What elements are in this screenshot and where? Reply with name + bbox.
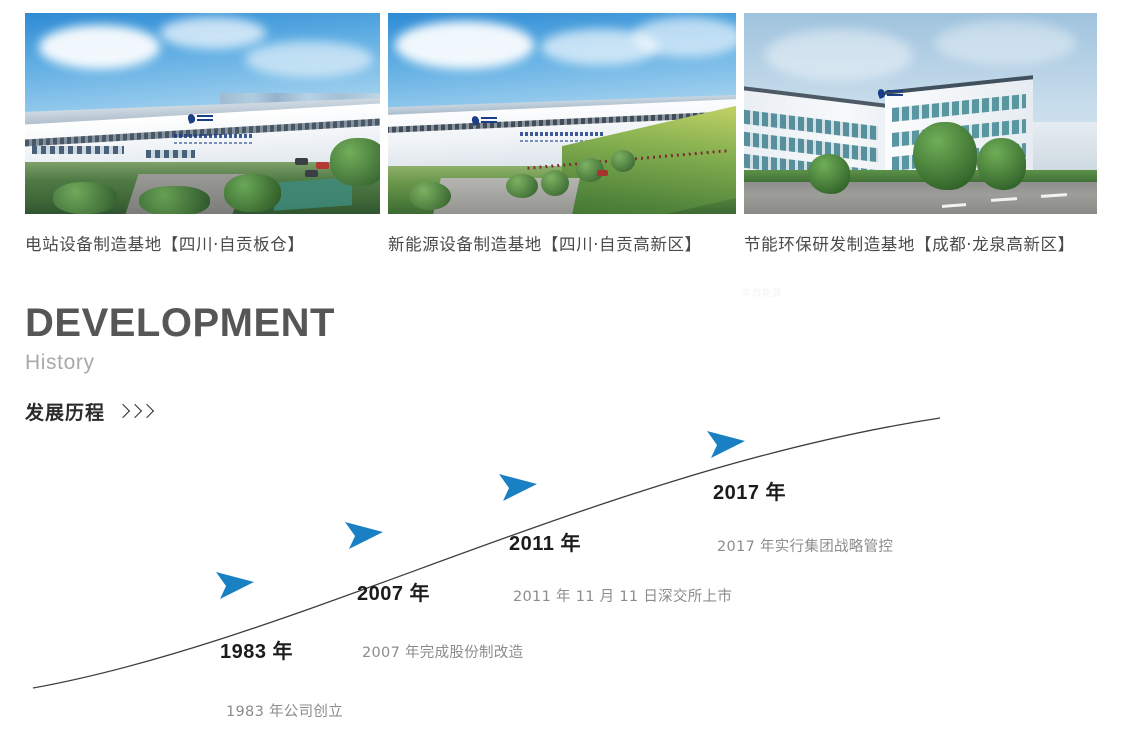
shrub — [541, 170, 569, 196]
timeline-event-description: 2011 年 11 月 11 日深交所上市 — [513, 585, 732, 606]
company-logo-on-building — [188, 114, 213, 123]
company-logo-on-building — [878, 89, 903, 98]
cloud-shape — [39, 25, 160, 69]
gallery-caption: 节能环保研发制造基地【成都·龙泉高新区】 — [744, 231, 1097, 255]
shrub — [224, 174, 281, 212]
road-surface — [744, 182, 1097, 214]
timeline-arrow-group — [216, 431, 745, 599]
faint-watermark: 华西能源 — [742, 286, 782, 299]
timeline-arrow-marker — [216, 572, 254, 599]
timeline-arrow-marker — [499, 474, 537, 501]
cloud-shape — [395, 21, 534, 69]
timeline-year-label: 1983 年 — [220, 635, 293, 664]
timeline-arrow-marker — [345, 522, 383, 549]
cloud-shape — [935, 21, 1076, 65]
facility-gallery: 电站设备制造基地【四川·自贡板仓】 — [25, 13, 1097, 256]
timeline-year-label: 2007 年 — [357, 577, 430, 606]
timeline-event-description: 2007 年完成股份制改造 — [362, 641, 523, 662]
parked-car — [597, 170, 608, 176]
energy-saving-rd-base-photo — [744, 13, 1097, 214]
gallery-caption: 新能源设备制造基地【四川·自贡高新区】 — [388, 231, 736, 255]
timeline-year-label: 2011 年 — [509, 527, 581, 556]
timeline-curve-svg — [0, 400, 1122, 740]
gallery-caption: 电站设备制造基地【四川·自贡板仓】 — [25, 231, 380, 255]
gallery-card-energy-saving[interactable]: 节能环保研发制造基地【成都·龙泉高新区】 — [744, 13, 1097, 255]
logo-wordmark — [887, 90, 903, 97]
shrub — [139, 186, 210, 214]
logo-mark-icon — [470, 115, 480, 126]
building-slogan-cn — [520, 132, 604, 136]
shrub — [506, 174, 537, 198]
logo-wordmark — [481, 117, 497, 124]
parked-car — [295, 158, 308, 165]
window-row — [146, 150, 196, 158]
tree — [977, 138, 1026, 190]
timeline-event-description: 2017 年实行集团战略管控 — [717, 535, 893, 556]
tree — [913, 122, 977, 190]
company-logo-on-building — [472, 116, 497, 125]
tree — [808, 154, 850, 194]
gallery-card-new-energy[interactable]: 新能源设备制造基地【四川·自贡高新区】 — [388, 13, 736, 255]
timeline-arrow-marker — [707, 431, 745, 458]
page-title: DEVELOPMENT — [25, 300, 335, 346]
tree — [330, 138, 380, 186]
shrub — [409, 182, 451, 210]
parked-car — [305, 170, 318, 177]
shrub — [53, 182, 117, 214]
logo-wordmark — [197, 115, 213, 122]
page-subtitle: History — [25, 348, 335, 378]
building-slogan-cn — [174, 134, 252, 138]
timeline-year-label: 2017 年 — [713, 476, 786, 505]
sports-court — [274, 177, 352, 211]
distant-building — [1026, 122, 1097, 174]
building-slogan-en — [174, 142, 252, 144]
power-station-equipment-base-photo — [25, 13, 380, 214]
timeline-event-description: 1983 年公司创立 — [226, 700, 343, 721]
shrub — [611, 150, 635, 172]
logo-mark-icon — [877, 88, 887, 99]
window-row — [32, 146, 124, 154]
parked-car — [316, 162, 329, 169]
development-timeline: 1983 年1983 年公司创立2007 年2007 年完成股份制改造2011 … — [0, 400, 1122, 740]
new-energy-equipment-base-photo — [388, 13, 736, 214]
cloud-shape — [245, 41, 373, 77]
gallery-card-power-station[interactable]: 电站设备制造基地【四川·自贡板仓】 — [25, 13, 380, 255]
logo-mark-icon — [187, 113, 197, 124]
